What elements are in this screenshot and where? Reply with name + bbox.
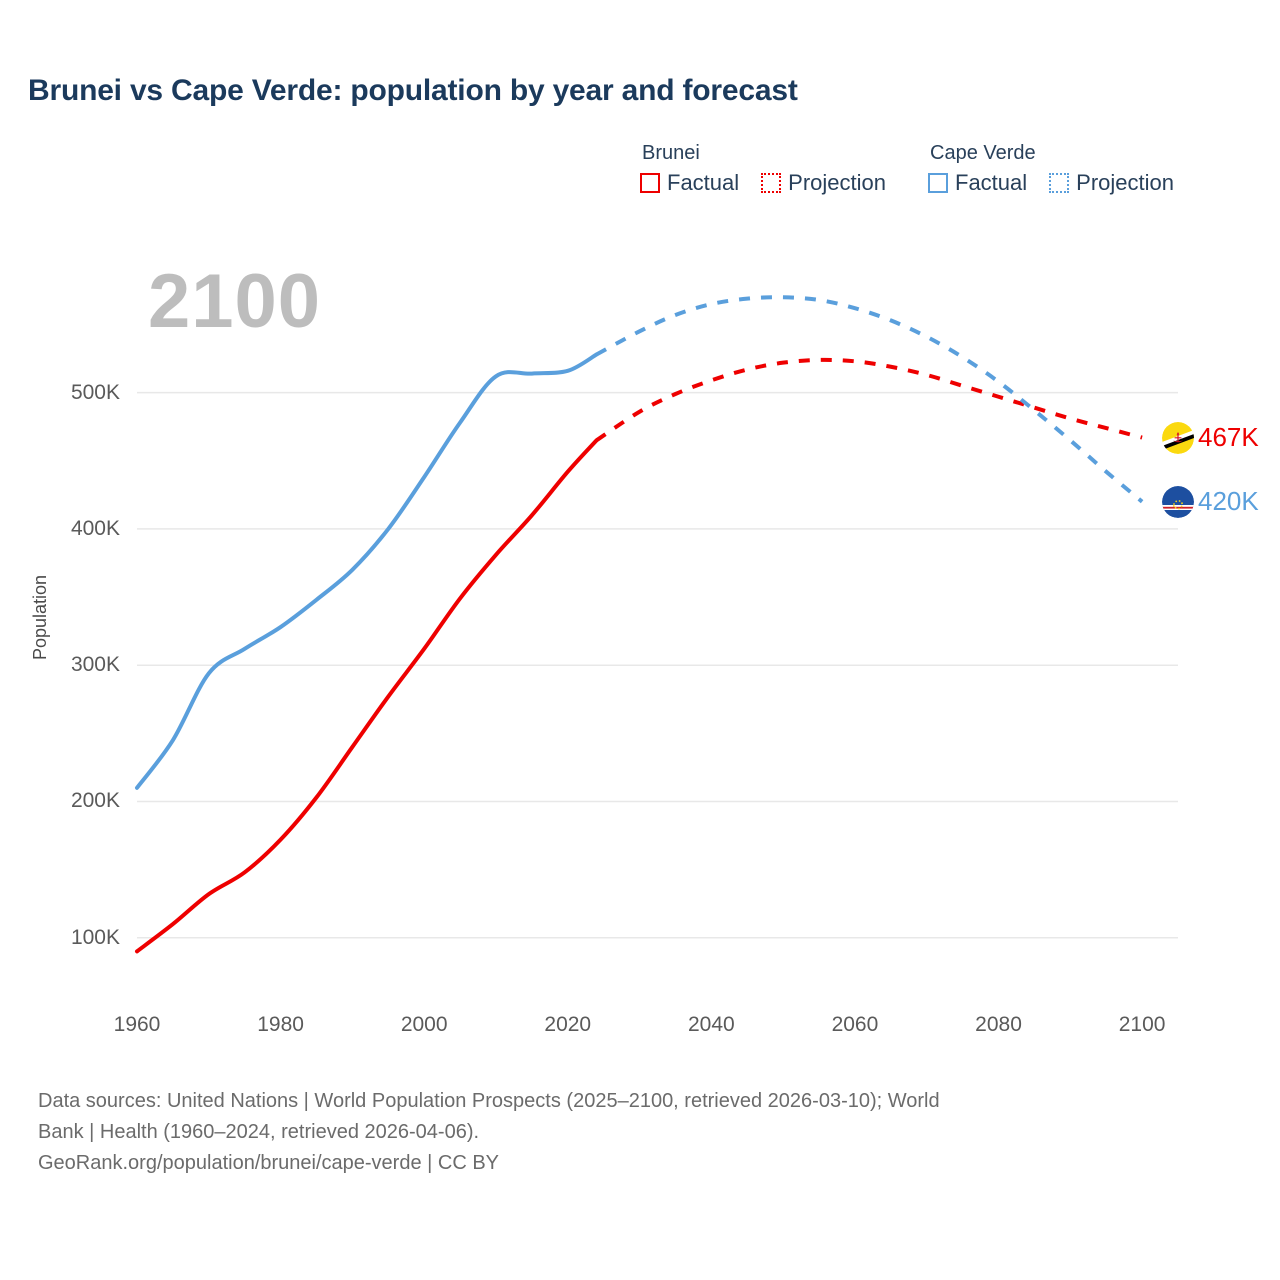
cape-verde-flag-icon	[1162, 486, 1194, 518]
x-axis-tick-label: 2080	[975, 1013, 1022, 1037]
end-label-value: 420K	[1198, 486, 1259, 517]
footer-line-2: Bank | Health (1960–2024, retrieved 2026…	[38, 1117, 1228, 1148]
series-line-projection-brunei	[596, 360, 1142, 440]
x-axis-tick-label: 1980	[257, 1013, 304, 1037]
end-label-brunei: 467K	[1162, 422, 1259, 454]
y-axis-tick-label: 300K	[10, 653, 120, 677]
x-axis-tick-label: 2060	[832, 1013, 879, 1037]
x-axis-tick-label: 2020	[544, 1013, 591, 1037]
series-line-factual-brunei	[137, 440, 596, 951]
y-axis-tick-label: 500K	[10, 381, 120, 405]
end-label-cape-verde: 420K	[1162, 486, 1259, 518]
brunei-flag-icon	[1162, 422, 1194, 454]
chart-container: Brunei vs Cape Verde: population by year…	[0, 0, 1280, 1280]
y-axis-tick-label: 200K	[10, 789, 120, 813]
series-line-projection-cape-verde	[596, 297, 1142, 501]
end-label-value: 467K	[1198, 422, 1259, 453]
footer-line-3: GeoRank.org/population/brunei/cape-verde…	[38, 1148, 1228, 1179]
y-axis-tick-label: 100K	[10, 926, 120, 950]
x-axis-tick-label: 2000	[401, 1013, 448, 1037]
footer-line-1: Data sources: United Nations | World Pop…	[38, 1086, 1228, 1117]
x-axis-tick-label: 2040	[688, 1013, 735, 1037]
series-line-factual-cape-verde	[137, 354, 596, 787]
x-axis-tick-label: 2100	[1119, 1013, 1166, 1037]
y-axis-tick-label: 400K	[10, 517, 120, 541]
footer-sources: Data sources: United Nations | World Pop…	[38, 1086, 1228, 1179]
x-axis-tick-label: 1960	[114, 1013, 161, 1037]
